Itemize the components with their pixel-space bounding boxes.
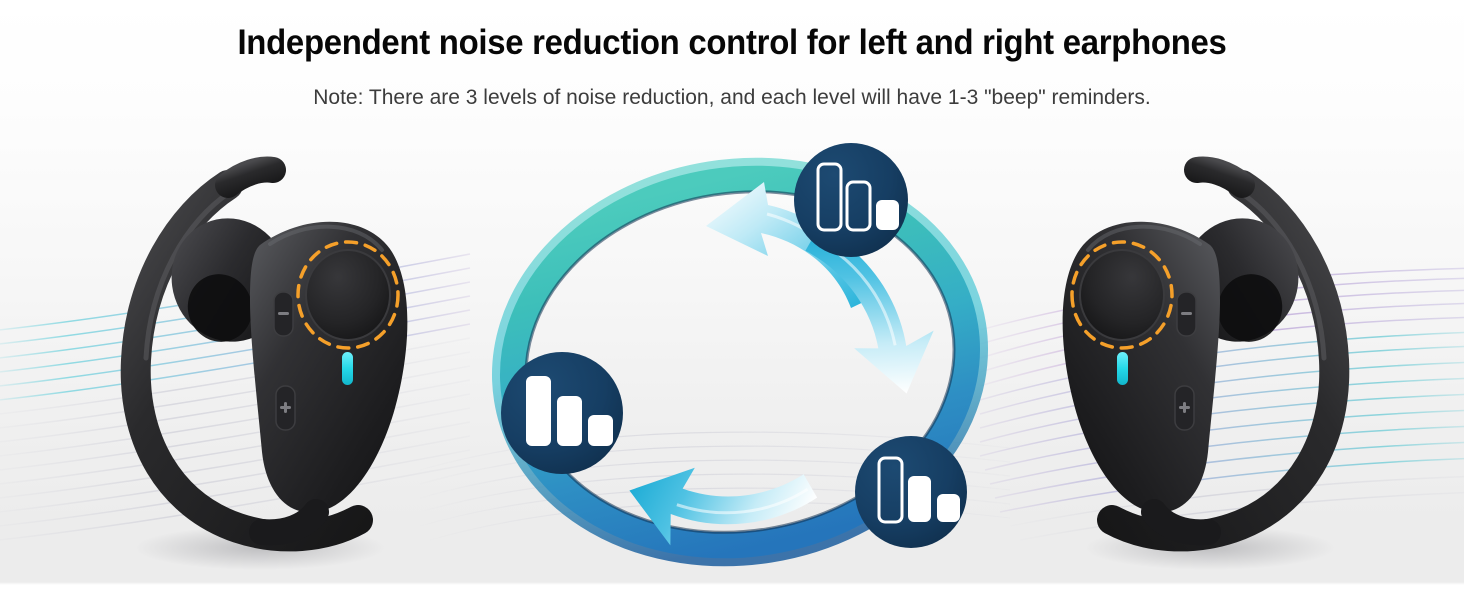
noise-reduction-level-cycle: Level 1 Level 3 Level 2 xyxy=(468,130,1013,590)
page-subtitle: Note: There are 3 levels of noise reduct… xyxy=(0,84,1464,112)
level-badge-left-bar-3 xyxy=(588,415,613,446)
promo-banner: Independent noise reduction control for … xyxy=(0,0,1464,600)
led-indicator-icon xyxy=(342,352,353,385)
earphone-right-hook-tip xyxy=(1197,170,1242,185)
level-badge-bottom-bar-2 xyxy=(908,476,931,522)
level-badge-bottom-label: Level 2 xyxy=(468,130,520,134)
earphone-right: Right earphone xyxy=(1020,140,1360,580)
earphone-left: Left earphone xyxy=(110,140,450,580)
level-badge-top-bar-3 xyxy=(876,200,899,230)
earphone-right-touch-pad[interactable] xyxy=(1080,250,1164,340)
earphone-right-volume-up-button[interactable] xyxy=(1175,386,1194,430)
earphone-right-volume-down-button[interactable] xyxy=(1177,292,1196,336)
led-indicator-icon xyxy=(1117,352,1128,385)
level-badge-bottom-bar-3 xyxy=(937,494,960,522)
earphone-right-body-tail xyxy=(1154,512,1208,532)
level-badge-left-bar-2 xyxy=(557,396,582,446)
earphone-left-body-tail xyxy=(262,512,316,532)
earphone-left-hook-tip xyxy=(228,170,273,185)
page-title: Independent noise reduction control for … xyxy=(44,22,1420,64)
earphone-left-volume-down-button[interactable] xyxy=(274,292,293,336)
level-badge-left-bar-1 xyxy=(526,376,551,446)
earphone-left-touch-pad[interactable] xyxy=(306,250,390,340)
earphone-left-volume-up-button[interactable] xyxy=(276,386,295,430)
